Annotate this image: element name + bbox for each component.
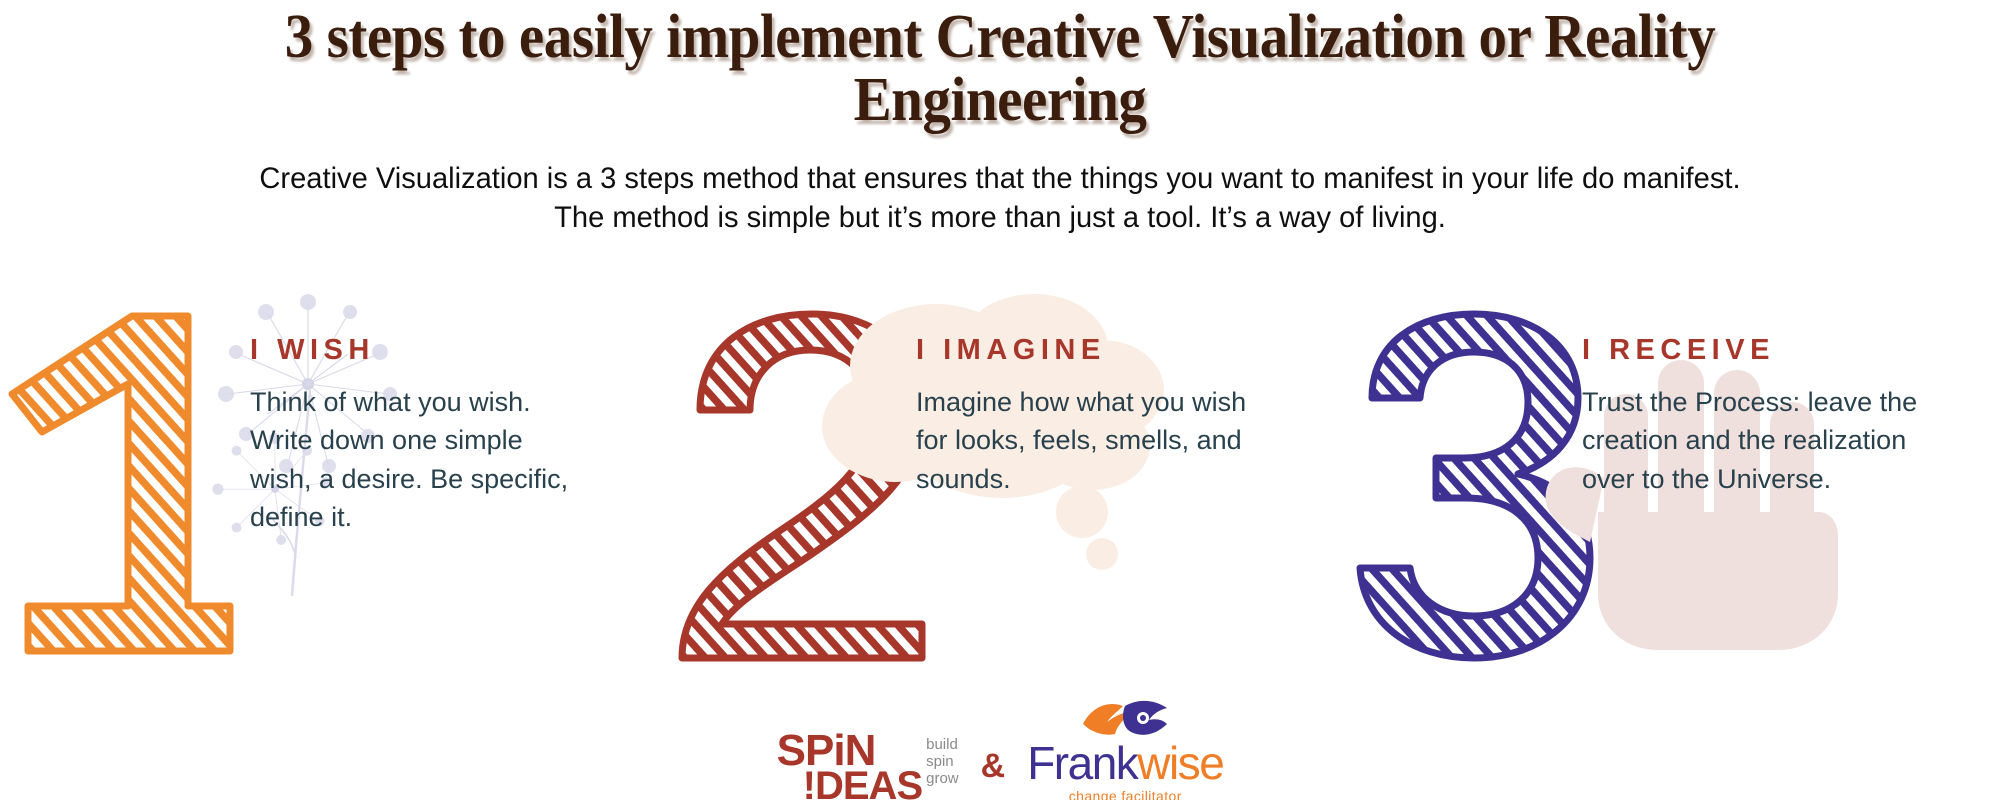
step-heading-2: I IMAGINE bbox=[916, 334, 1256, 367]
page-title: 3 steps to easily implement Creative Vis… bbox=[218, 6, 1782, 132]
logo-separator-ampersand: & bbox=[981, 747, 1006, 800]
subtitle-line-2: The method is simple but it’s more than … bbox=[117, 199, 1882, 237]
frankwise-word-frank: Frank bbox=[1027, 737, 1137, 789]
step-heading-3: I RECEIVE bbox=[1582, 334, 1922, 367]
frankwise-logo: Frankwise change facilitator bbox=[1027, 698, 1223, 800]
step-text-3: I RECEIVE Trust the Process: leave the c… bbox=[1582, 334, 1922, 498]
page-subtitle: Creative Visualization is a 3 steps meth… bbox=[117, 160, 1882, 237]
frankwise-word-wise: wise bbox=[1137, 737, 1223, 789]
spinideas-logo: SPiN !DEAS build spin grow bbox=[777, 733, 959, 800]
step-card-1: I WISH Think of what you wish. Write dow… bbox=[0, 306, 666, 666]
step-card-3: I RECEIVE Trust the Process: leave the c… bbox=[1332, 306, 1998, 666]
step-heading-1: I WISH bbox=[250, 334, 590, 367]
spinideas-tagline-grow: grow bbox=[926, 771, 959, 788]
step-body-2: Imagine how what you wish for looks, fee… bbox=[916, 383, 1256, 498]
spinideas-wordmark: SPiN !DEAS bbox=[777, 733, 922, 800]
frankwise-owl-icon bbox=[1077, 698, 1173, 740]
steps-row: I WISH Think of what you wish. Write dow… bbox=[0, 306, 2000, 666]
frankwise-wordmark: Frankwise bbox=[1027, 740, 1223, 786]
spinideas-tagline: build spin grow bbox=[922, 733, 959, 787]
spinideas-tagline-spin: spin bbox=[926, 754, 959, 771]
frankwise-tagline: change facilitator bbox=[1069, 788, 1182, 800]
subtitle-line-1: Creative Visualization is a 3 steps meth… bbox=[117, 160, 1882, 198]
step-text-2: I IMAGINE Imagine how what you wish for … bbox=[916, 334, 1256, 498]
step-body-3: Trust the Process: leave the creation an… bbox=[1582, 383, 1922, 498]
footer-logos: SPiN !DEAS build spin grow & Frankwise c… bbox=[0, 698, 2000, 800]
step-card-2: I IMAGINE Imagine how what you wish for … bbox=[666, 306, 1332, 666]
step-text-1: I WISH Think of what you wish. Write dow… bbox=[250, 334, 590, 536]
step-body-1: Think of what you wish. Write down one s… bbox=[250, 383, 590, 536]
header-block: 3 steps to easily implement Creative Vis… bbox=[150, 6, 1850, 132]
spinideas-tagline-build: build bbox=[926, 737, 959, 754]
